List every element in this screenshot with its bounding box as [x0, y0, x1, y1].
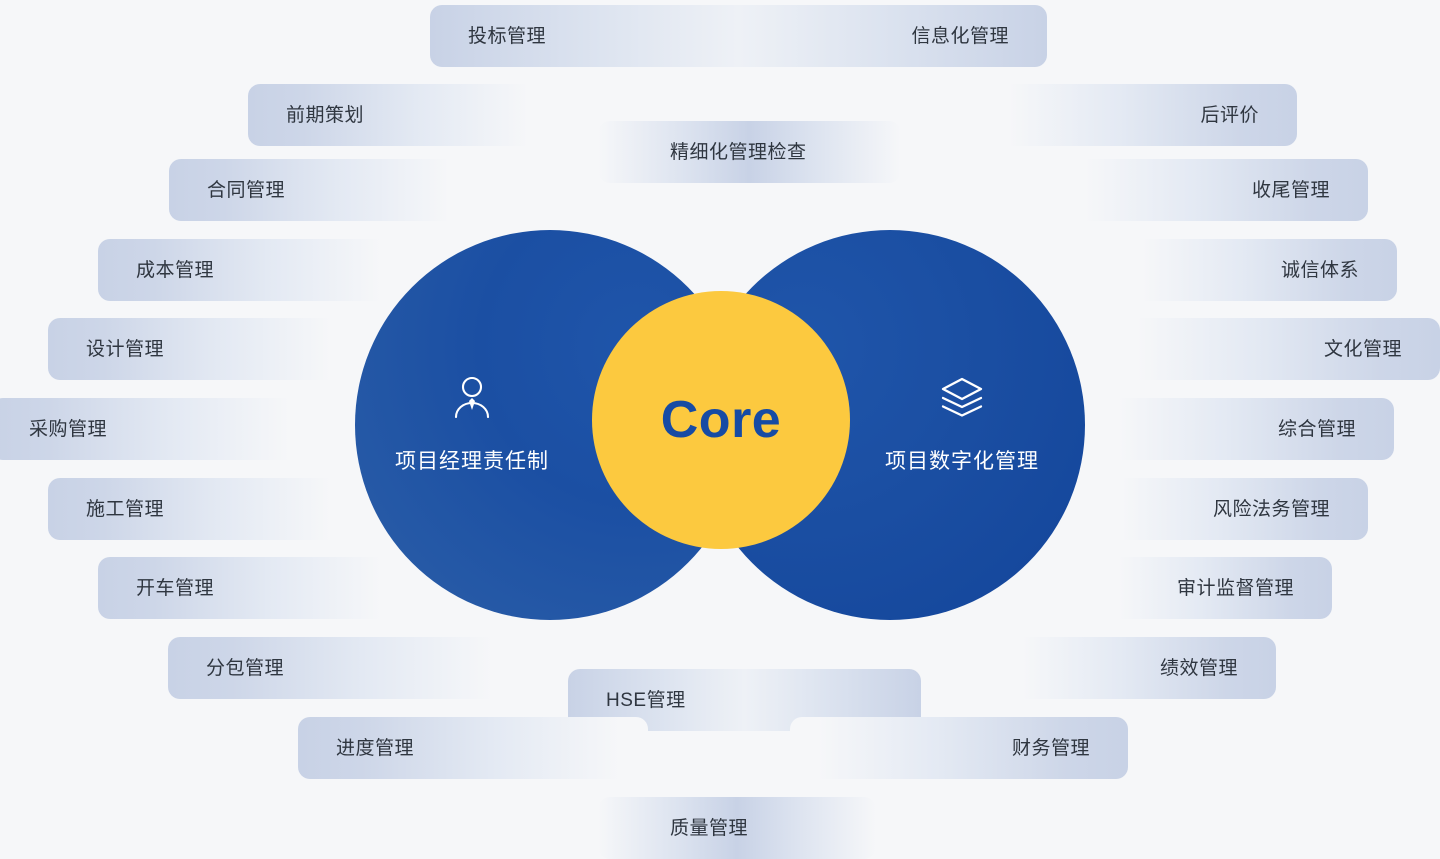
pill-shigong-guanli[interactable]: 施工管理: [48, 478, 356, 540]
pill-zonghe-guanli[interactable]: 综合管理: [1094, 398, 1394, 460]
pill-shouwei-guanli[interactable]: 收尾管理: [1060, 159, 1368, 221]
pill-hetong-guanli[interactable]: 合同管理: [169, 159, 474, 221]
pill-label: 绩效管理: [1160, 659, 1238, 678]
core-label: Core: [661, 390, 781, 450]
pill-label: 采购管理: [29, 420, 107, 439]
venn-left-label: 项目经理责任制: [395, 445, 549, 475]
pill-kaiche-guanli[interactable]: 开车管理: [98, 557, 406, 619]
pill-label: 成本管理: [136, 261, 214, 280]
pill-label: 后评价: [1200, 106, 1259, 125]
pill-label: 质量管理: [670, 819, 748, 838]
pill-label: 设计管理: [86, 340, 164, 359]
pill-jingxihua-guanli-jiancha[interactable]: 精细化管理检查: [598, 121, 901, 183]
pill-jindu-guanli[interactable]: 进度管理: [298, 717, 648, 779]
pill-label: HSE管理: [606, 691, 686, 710]
pill-label-secondary: 财务管理: [1012, 739, 1090, 758]
pill-chengxin-tixi[interactable]: 诚信体系: [1120, 239, 1397, 301]
diagram-canvas: 投标管理 信息化管理 前期策划 后评价 合同管理 精细化管理检查 收尾管理 成本…: [0, 0, 1440, 859]
pill-sheji-guanli[interactable]: 设计管理: [48, 318, 356, 380]
pill-label: 诚信体系: [1281, 261, 1359, 280]
pill-hou-pingjia[interactable]: 后评价: [983, 84, 1297, 146]
pill-label: 风险法务管理: [1213, 500, 1330, 519]
pill-fenbao-guanli[interactable]: 分包管理: [168, 637, 521, 699]
pill-wenhua-guanli[interactable]: 文化管理: [1110, 318, 1440, 380]
pill-label: 文化管理: [1324, 340, 1402, 359]
pill-label: 综合管理: [1278, 420, 1356, 439]
pill-label: 开车管理: [136, 579, 214, 598]
pill-label: 分包管理: [206, 659, 284, 678]
pill-caigou-guanli[interactable]: 采购管理: [0, 398, 316, 460]
pill-label: 施工管理: [86, 500, 164, 519]
pill-label: 收尾管理: [1252, 181, 1330, 200]
pill-fengxian-fawu-guanli[interactable]: 风险法务管理: [1100, 478, 1368, 540]
pill-chengben-guanli[interactable]: 成本管理: [98, 239, 406, 301]
person-tie-icon: [452, 376, 492, 423]
pill-label: 投标管理: [468, 27, 546, 46]
pill-shenji-jiandu-guanli[interactable]: 审计监督管理: [1100, 557, 1332, 619]
pill-label: 合同管理: [207, 181, 285, 200]
pill-label: 精细化管理检查: [670, 143, 807, 162]
pill-label: 前期策划: [286, 106, 364, 125]
venn-right-label: 项目数字化管理: [885, 445, 1039, 475]
pill-label-secondary: 信息化管理: [911, 27, 1009, 46]
pill-caiwu-guanli[interactable]: 财务管理: [790, 717, 1128, 779]
pill-qianqi-cehua[interactable]: 前期策划: [248, 84, 553, 146]
layers-stack-icon: [940, 376, 984, 423]
pill-zhiliang-guanli[interactable]: 质量管理: [598, 797, 876, 859]
pill-toubiao-guanli[interactable]: 投标管理 信息化管理: [430, 5, 1047, 67]
venn-core-circle[interactable]: Core: [592, 291, 850, 549]
pill-jixiao-guanli[interactable]: 绩效管理: [1000, 637, 1276, 699]
pill-label: 进度管理: [336, 739, 414, 758]
pill-label: 审计监督管理: [1177, 579, 1294, 598]
